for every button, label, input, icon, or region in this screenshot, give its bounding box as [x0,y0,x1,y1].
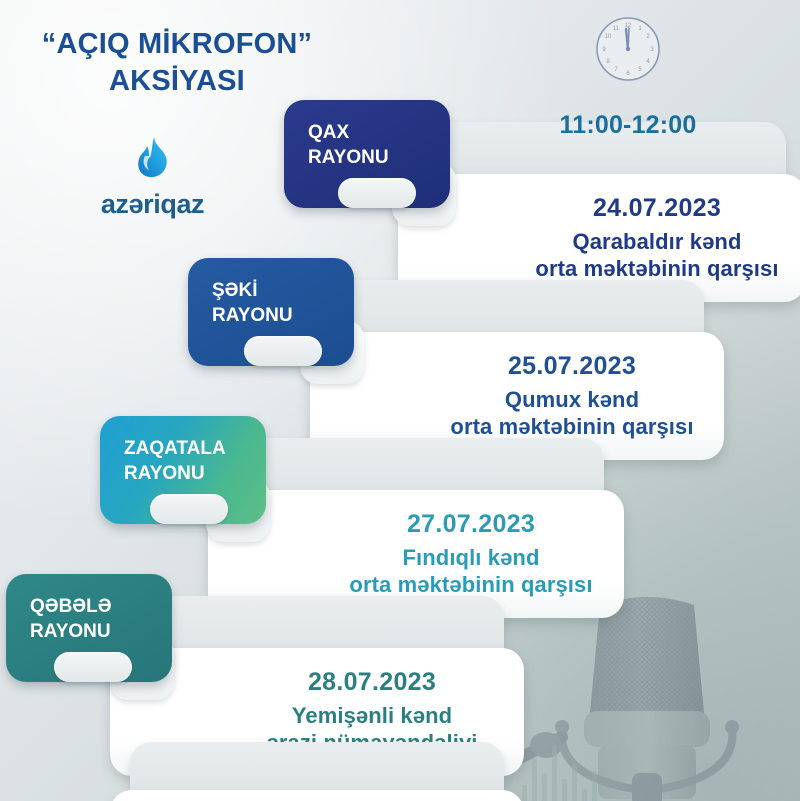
event-location-line1: Qumux kənd [505,387,639,412]
header: “AÇIQ MİKROFON” AKSİYASI azəriqaz [0,0,800,250]
page-title-line1: “AÇIQ MİKROFON” [42,28,312,60]
region-name-line1: ZAQATALA [124,438,226,459]
azeriqaz-logo-text: azəriqaz [70,189,235,220]
page-title-line2: AKSİYASI [12,63,342,100]
svg-text:10: 10 [605,34,612,40]
analog-clock-icon: 1212 345 678 91011 [548,14,708,89]
azeriqaz-logo: azəriqaz [70,136,235,220]
time-range-label: 11:00-12:00 [548,111,708,140]
connector-knob [54,652,132,682]
event-date: 27.07.2023 [407,510,535,539]
gas-flame-icon [70,136,235,183]
page-title: “AÇIQ MİKROFON” AKSİYASI [12,26,342,99]
event-date: 28.07.2023 [308,668,436,697]
connector-knob [244,336,322,366]
region-name-line1: ŞƏKİ [212,280,257,301]
svg-text:11: 11 [613,26,620,32]
region-name-line2: RAYONU [30,619,172,644]
schedule-card[interactable] [110,790,524,801]
region-name-line1: QƏBƏLƏ [30,596,112,617]
event-location-line1: Fındıqlı kənd [403,545,540,570]
event-date: 25.07.2023 [508,352,636,381]
region-name-line2: RAYONU [124,461,266,486]
connector-knob [150,494,228,524]
schedule-row-partial [0,732,800,801]
time-block: 1212 345 678 91011 11:00-12:00 [548,14,708,140]
event-location-line1: Yemişənli kənd [292,703,452,728]
region-name-line2: RAYONU [212,303,354,328]
